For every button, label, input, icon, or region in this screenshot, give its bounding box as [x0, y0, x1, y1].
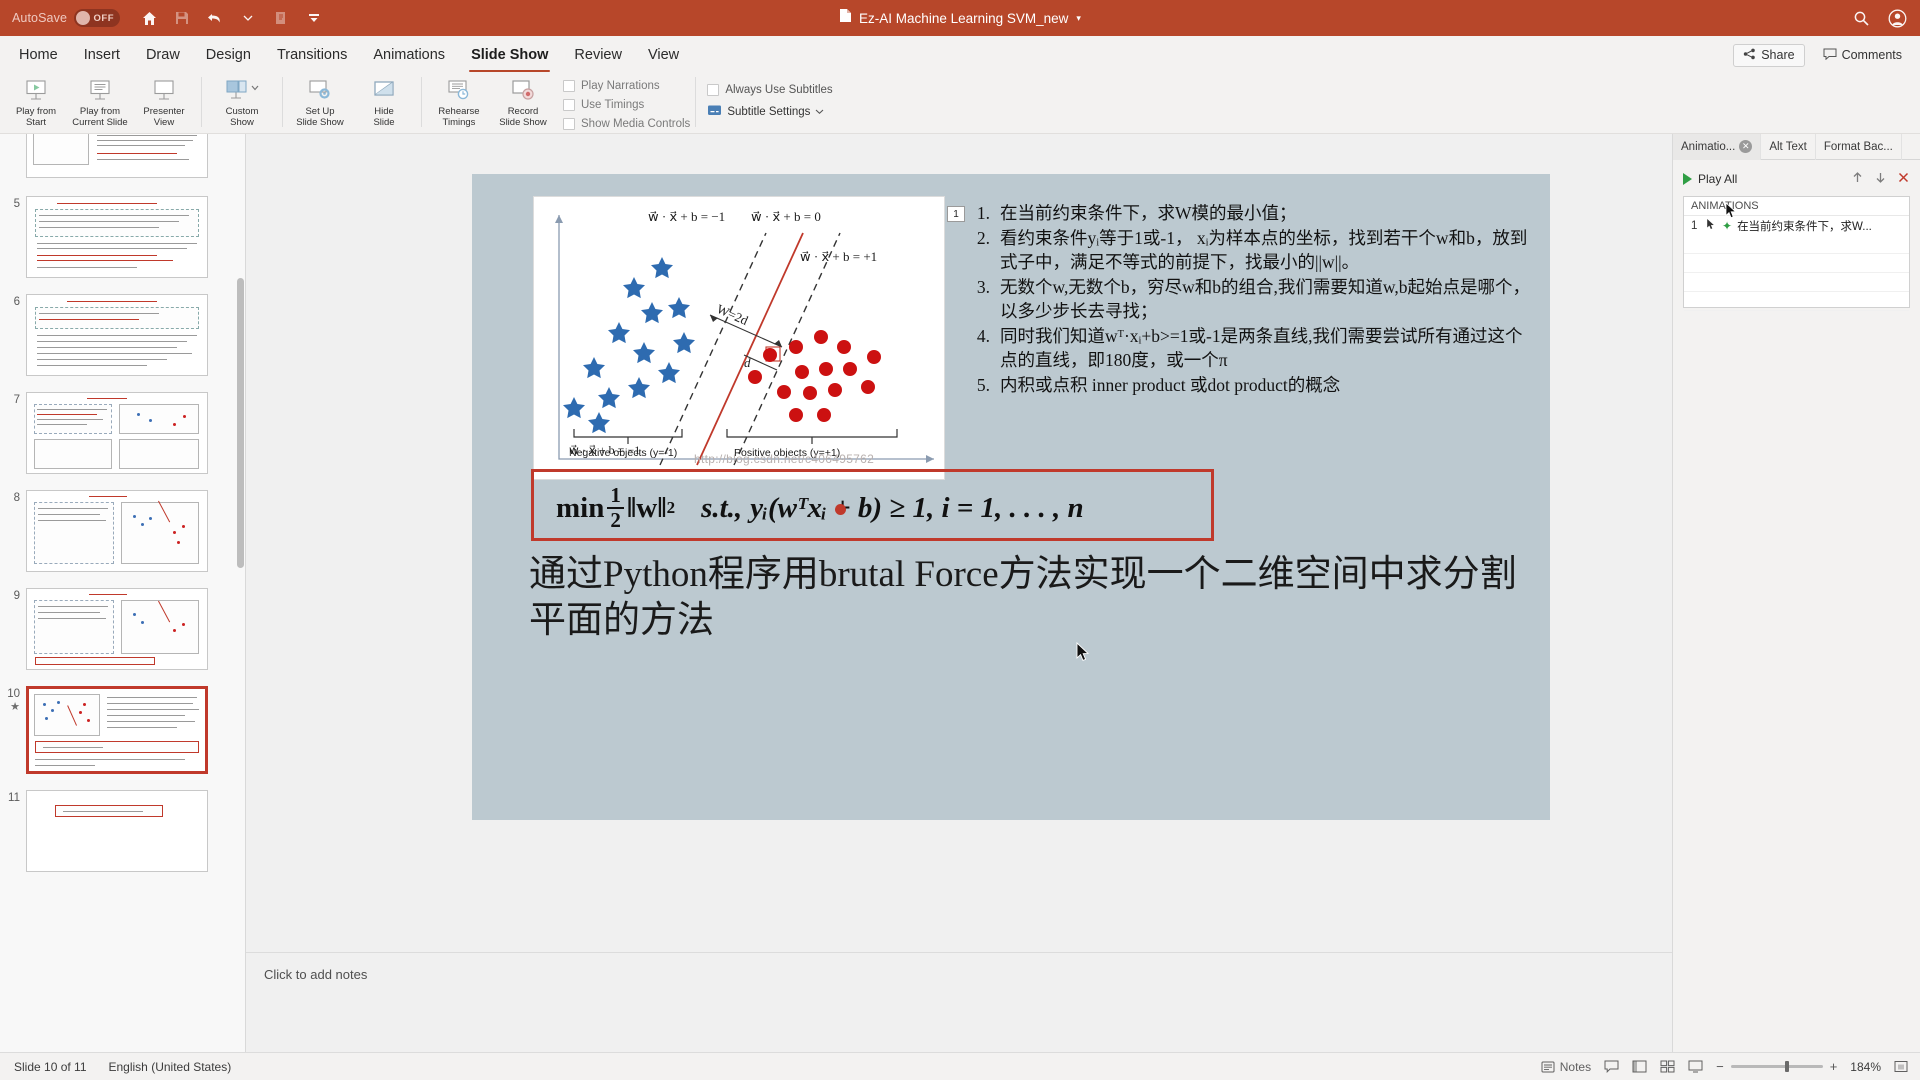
checkbox-box: [707, 84, 719, 96]
ribbon-slide-show: Play from Start Play from Current Slide …: [0, 74, 1920, 134]
share-label: Share: [1761, 48, 1794, 62]
tab-animation-pane[interactable]: Animatio... ✕: [1673, 134, 1761, 160]
animation-list[interactable]: ANIMATIONS 1 ✦ 在当前约束条件下，求W...: [1683, 196, 1910, 308]
main-area: 4 5: [0, 134, 1920, 1062]
pane-mouse-pointer-icon: [1725, 202, 1737, 224]
close-icon[interactable]: ✕: [1739, 140, 1752, 153]
ribbon-separator-2: [282, 77, 283, 127]
thumbnail-image[interactable]: [26, 134, 208, 178]
notes-placeholder: Click to add notes: [264, 967, 367, 982]
thumbnail-image[interactable]: [26, 294, 208, 376]
zoom-out-button[interactable]: −: [1716, 1059, 1724, 1074]
thumbnail-slide-8[interactable]: 8: [0, 490, 246, 572]
language-label[interactable]: English (United States): [109, 1060, 232, 1074]
thumbnail-number: 11: [0, 790, 26, 872]
notes-pane[interactable]: Click to add notes: [246, 952, 1672, 1024]
ribbon-separator-3: [421, 77, 422, 127]
comment-icon: [1823, 48, 1837, 63]
reading-view-icon[interactable]: [1688, 1060, 1703, 1073]
presenter-view-icon: [149, 77, 179, 105]
hide-slide-icon: [369, 77, 399, 105]
play-narrations-label: Play Narrations: [581, 80, 660, 92]
thumbnail-image[interactable]: [26, 790, 208, 872]
subtitle-settings-icon: [707, 104, 722, 120]
tab-slide-show[interactable]: Slide Show: [458, 36, 561, 74]
play-from-current-icon: [85, 77, 115, 105]
autosave-state: OFF: [94, 13, 115, 24]
animation-pane-body: Play All ANIMATI: [1673, 160, 1920, 308]
thumbnail-number: 5: [0, 196, 26, 278]
autosave-group[interactable]: AutoSave OFF: [12, 9, 120, 27]
animation-empty-row: [1684, 273, 1909, 292]
thumbnail-slide-7[interactable]: 7: [0, 392, 246, 474]
zoom-slider[interactable]: − +: [1716, 1059, 1837, 1074]
svm-diagram: w⃗ · x⃗ + b = −1 w⃗ · x⃗ + b = 0 w⃗ · x⃗…: [534, 197, 944, 479]
undo-icon[interactable]: [200, 5, 230, 31]
animation-list-item[interactable]: 1 ✦ 在当前约束条件下，求W...: [1684, 216, 1909, 235]
ribbon-separator-4: [695, 77, 696, 127]
checkbox-box: [563, 118, 575, 130]
save-icon[interactable]: [167, 5, 197, 31]
subtitle-settings-button[interactable]: Subtitle Settings: [707, 104, 832, 120]
rehearse-timings-icon: [444, 77, 474, 105]
bullet-number: 2.: [972, 227, 1000, 275]
presenter-view-button[interactable]: Presenter View: [132, 74, 196, 132]
slide-heading[interactable]: 通过Python程序用brutal Force方法实现一个二维空间中求分割平面的…: [529, 552, 1519, 645]
formula-min: min: [556, 492, 604, 525]
quick-access-toolbar: [134, 5, 329, 31]
zoom-track[interactable]: [1731, 1065, 1823, 1068]
always-use-subtitles-checkbox[interactable]: Always Use Subtitles: [707, 84, 832, 96]
thumbnail-slide-6[interactable]: 6: [0, 294, 246, 376]
slide-count-label[interactable]: Slide 10 of 11: [14, 1060, 87, 1074]
play-from-start-icon: [21, 77, 51, 105]
animation-star-icon: ★: [0, 700, 20, 713]
account-icon[interactable]: [1884, 5, 1910, 31]
bullet-number: 3.: [972, 276, 1000, 324]
record-slide-show-label: Record Slide Show: [499, 107, 547, 128]
thumbnail-image[interactable]: [26, 588, 208, 670]
animation-list-header: ANIMATIONS: [1684, 197, 1909, 216]
thumbnail-number: 10 ★: [0, 686, 26, 774]
objective-formula: min 1 2 ‖w‖ 2 s.t., yᵢ(wᵀxᵢ + b) ≥ 1, i …: [534, 472, 1217, 544]
status-bar: Slide 10 of 11 English (United States) N…: [0, 1052, 1920, 1080]
comments-icon[interactable]: [1604, 1060, 1619, 1073]
checkbox-box: [563, 99, 575, 111]
mouse-pointer-icon: [1076, 642, 1090, 667]
play-from-current-slide-button[interactable]: Play from Current Slide: [68, 74, 132, 132]
formula-highlight-box[interactable]: min 1 2 ‖w‖ 2 s.t., yᵢ(wᵀxᵢ + b) ≥ 1, i …: [531, 469, 1214, 541]
animation-empty-row: [1684, 292, 1909, 311]
svm-diagram-picture[interactable]: w⃗ · x⃗ + b = −1 w⃗ · x⃗ + b = 0 w⃗ · x⃗…: [533, 196, 945, 480]
notes-button-label: Notes: [1560, 1060, 1591, 1074]
tab-insert[interactable]: Insert: [71, 36, 133, 74]
animation-empty-row: [1684, 235, 1909, 254]
presenter-view-label: Presenter View: [143, 107, 184, 128]
customize-toolbar-icon[interactable]: [299, 5, 329, 31]
diagram-label-positive: w⃗ · x⃗ + b = +1: [800, 249, 877, 265]
set-up-slide-show-button[interactable]: Set Up Slide Show: [288, 74, 352, 132]
formula-norm: ‖w‖: [627, 492, 667, 525]
bullet-item-2: 2. 看约束条件yᵢ等于1或-1， xᵢ为样本点的坐标，找到若干个w和b，放到式…: [972, 227, 1532, 275]
thumbnail-number: 8: [0, 490, 26, 572]
play-from-current-slide-label: Play from Current Slide: [72, 107, 127, 128]
play-narrations-checkbox[interactable]: Play Narrations: [563, 77, 690, 94]
use-timings-label: Use Timings: [581, 99, 644, 111]
animation-label: 在当前约束条件下，求W...: [1737, 218, 1872, 234]
formula-subject-to: s.t.,: [701, 492, 742, 525]
share-button[interactable]: Share: [1733, 44, 1804, 67]
thumbnail-number: 7: [0, 392, 26, 474]
ribbon-separator: [201, 77, 202, 127]
play-all-label: Play All: [1698, 172, 1737, 186]
fraction-denominator: 2: [610, 509, 621, 531]
thumbnail-scrollbar[interactable]: [237, 134, 244, 1062]
ribbon-right-actions: Share Comments: [1733, 44, 1912, 67]
thumbnail-image-selected[interactable]: [26, 686, 208, 774]
show-media-controls-checkbox[interactable]: Show Media Controls: [563, 115, 690, 132]
bullet-number: 5.: [972, 374, 1000, 398]
tab-transitions[interactable]: Transitions: [264, 36, 360, 74]
document-icon: [839, 8, 852, 28]
zoom-in-button[interactable]: +: [1830, 1059, 1838, 1074]
hide-slide-label: Hide Slide: [373, 107, 394, 128]
diagram-watermark: http://blog.csdn.net/c406495762: [694, 452, 874, 466]
always-use-subtitles-label: Always Use Subtitles: [725, 84, 832, 96]
diagram-label-d: d: [744, 355, 751, 371]
toggle-knob: [76, 11, 90, 25]
redo-icon[interactable]: [266, 5, 296, 31]
tab-review[interactable]: Review: [561, 36, 635, 74]
comments-label: Comments: [1842, 48, 1902, 62]
subtitle-settings-label: Subtitle Settings: [727, 106, 810, 118]
slide-sorter-icon[interactable]: [1660, 1060, 1675, 1073]
thumbnail-image[interactable]: [26, 392, 208, 474]
notes-button[interactable]: Notes: [1541, 1060, 1591, 1074]
current-slide[interactable]: w⃗ · x⃗ + b = −1 w⃗ · x⃗ + b = 0 w⃗ · x⃗…: [472, 174, 1550, 820]
move-down-icon[interactable]: [1874, 171, 1887, 187]
scrollbar-thumb[interactable]: [237, 278, 244, 568]
fit-to-window-icon[interactable]: [1894, 1060, 1908, 1073]
autosave-toggle[interactable]: OFF: [74, 9, 120, 27]
title-bar: AutoSave OFF: [0, 0, 1920, 36]
formula-exponent: 2: [667, 498, 676, 518]
animation-index: 1: [1691, 220, 1701, 232]
zoom-knob[interactable]: [1785, 1061, 1789, 1072]
status-right: Notes − + 184%: [1541, 1059, 1908, 1074]
show-options-checkbox-group: Play Narrations Use Timings Show Media C…: [555, 74, 690, 132]
hide-slide-button[interactable]: Hide Slide: [352, 74, 416, 132]
thumbnail-number: 4: [0, 134, 26, 178]
animation-tab-label: Animatio...: [1681, 141, 1735, 153]
diagram-label-negative: w⃗ · x⃗ + b = −1: [648, 209, 725, 225]
tab-draw[interactable]: Draw: [133, 36, 193, 74]
bullet-text: 看约束条件yᵢ等于1或-1， xᵢ为样本点的坐标，找到若干个w和b，放到式子中，…: [1000, 227, 1532, 275]
bullet-item-5: 5. 内积或点积 inner product 或dot product的概念: [972, 374, 1532, 398]
formula-constraint: yᵢ(wᵀxᵢ + b) ≥ 1, i = 1, . . . , n: [750, 492, 1084, 525]
play-icon: [1683, 173, 1692, 185]
use-timings-checkbox[interactable]: Use Timings: [563, 96, 690, 113]
tab-format-background[interactable]: Format Bac...: [1816, 134, 1902, 160]
bullet-item-3: 3. 无数个w,无数个b，穷尽w和b的组合,我们需要知道w,b起始点是哪个，以多…: [972, 276, 1532, 324]
diagram-caption-negative: Negative objects (y=-1): [569, 447, 677, 459]
thumbnail-number: 9: [0, 588, 26, 670]
thumbnail-slide-11[interactable]: 11: [0, 790, 246, 872]
formula-fraction: 1 2: [607, 485, 624, 531]
animation-order-badge[interactable]: 1: [947, 206, 965, 222]
tab-alt-text[interactable]: Alt Text: [1761, 134, 1816, 160]
record-slide-show-button[interactable]: Record Slide Show: [491, 74, 555, 132]
custom-show-icon: [221, 77, 263, 105]
ribbon-tab-strip: Home Insert Draw Design Transitions Anim…: [0, 36, 1920, 74]
animation-pane-toolbar: Play All: [1683, 168, 1910, 190]
thumbnail-image[interactable]: [26, 490, 208, 572]
bullet-number: 4.: [972, 325, 1000, 373]
bullet-item-1: 1. 在当前约束条件下，求W模的最小值；: [972, 202, 1532, 226]
thumbnail-slide-5[interactable]: 5: [0, 196, 246, 278]
tab-animations[interactable]: Animations: [360, 36, 458, 74]
slide-bullet-list[interactable]: 1. 在当前约束条件下，求W模的最小值； 2. 看约束条件yᵢ等于1或-1， x…: [972, 202, 1532, 399]
zoom-level-label[interactable]: 184%: [1850, 1060, 1881, 1074]
powerpoint-window: AutoSave OFF: [0, 0, 1920, 1080]
record-slide-show-icon: [508, 77, 538, 105]
slide-editing-area[interactable]: w⃗ · x⃗ + b = −1 w⃗ · x⃗ + b = 0 w⃗ · x⃗…: [246, 134, 1672, 952]
comments-button[interactable]: Comments: [1813, 44, 1912, 67]
normal-view-icon[interactable]: [1632, 1060, 1647, 1073]
set-up-slide-show-label: Set Up Slide Show: [296, 107, 344, 128]
mouse-click-icon: [1706, 218, 1717, 233]
delete-icon[interactable]: [1897, 171, 1910, 187]
bullet-text: 内积或点积 inner product 或dot product的概念: [1000, 374, 1532, 398]
bullet-text: 同时我们知道wᵀ·xᵢ+b>=1或-1是两条直线,我们需要尝试所有通过这个点的直…: [1000, 325, 1532, 373]
tab-design[interactable]: Design: [193, 36, 264, 74]
document-title[interactable]: Ez-AI Machine Learning SVM_new: [859, 11, 1068, 26]
status-left: Slide 10 of 11 English (United States): [14, 1060, 231, 1074]
undo-dropdown-icon[interactable]: [233, 5, 263, 31]
diagram-label-zero: w⃗ · x⃗ + b = 0: [751, 209, 821, 225]
set-up-slide-show-icon: [305, 77, 335, 105]
bullet-number: 1.: [972, 202, 1000, 226]
share-icon: [1743, 48, 1756, 63]
bullet-text: 无数个w,无数个b，穷尽w和b的组合,我们需要知道w,b起始点是哪个，以多少步长…: [1000, 276, 1532, 324]
thumbnail-slide-4[interactable]: 4: [0, 134, 246, 178]
title-bar-right: [1848, 0, 1910, 36]
play-from-start-label: Play from Start: [16, 107, 56, 128]
subtitle-group: Always Use Subtitles Subtitle Settings: [701, 74, 832, 120]
animation-marker-dot: [835, 504, 846, 515]
thumbnail-slide-10[interactable]: 10 ★: [0, 686, 246, 774]
right-pane-tabs: Animatio... ✕ Alt Text Format Bac...: [1673, 134, 1920, 160]
rehearse-timings-label: Rehearse Timings: [438, 107, 479, 128]
move-up-icon[interactable]: [1851, 171, 1864, 187]
home-icon[interactable]: [134, 5, 164, 31]
thumbnail-slide-9[interactable]: 9: [0, 588, 246, 670]
checkbox-box: [563, 80, 575, 92]
fraction-numerator: 1: [607, 485, 624, 509]
play-all-button[interactable]: Play All: [1683, 172, 1737, 186]
bullet-text: 在当前约束条件下，求W模的最小值；: [1000, 202, 1532, 226]
search-icon[interactable]: [1848, 5, 1874, 31]
tab-view[interactable]: View: [635, 36, 692, 74]
animation-pane[interactable]: Animatio... ✕ Alt Text Format Bac... Pla…: [1672, 134, 1920, 1062]
title-chevron-down-icon[interactable]: ▾: [1076, 13, 1081, 24]
play-from-start-button[interactable]: Play from Start: [4, 74, 68, 132]
thumbnail-image[interactable]: [26, 196, 208, 278]
rehearse-timings-button[interactable]: Rehearse Timings: [427, 74, 491, 132]
bullet-item-4: 4. 同时我们知道wᵀ·xᵢ+b>=1或-1是两条直线,我们需要尝试所有通过这个…: [972, 325, 1532, 373]
animation-empty-row: [1684, 254, 1909, 273]
chevron-down-icon: [815, 106, 824, 118]
thumbnail-number: 6: [0, 294, 26, 376]
animation-reorder-tools: [1851, 171, 1910, 187]
custom-show-button[interactable]: Custom Show: [207, 74, 277, 132]
show-media-controls-label: Show Media Controls: [581, 118, 690, 130]
autosave-label: AutoSave: [12, 11, 67, 25]
custom-show-label: Custom Show: [226, 107, 259, 128]
tab-home[interactable]: Home: [6, 36, 71, 74]
slide-thumbnail-pane[interactable]: 4 5: [0, 134, 246, 1062]
